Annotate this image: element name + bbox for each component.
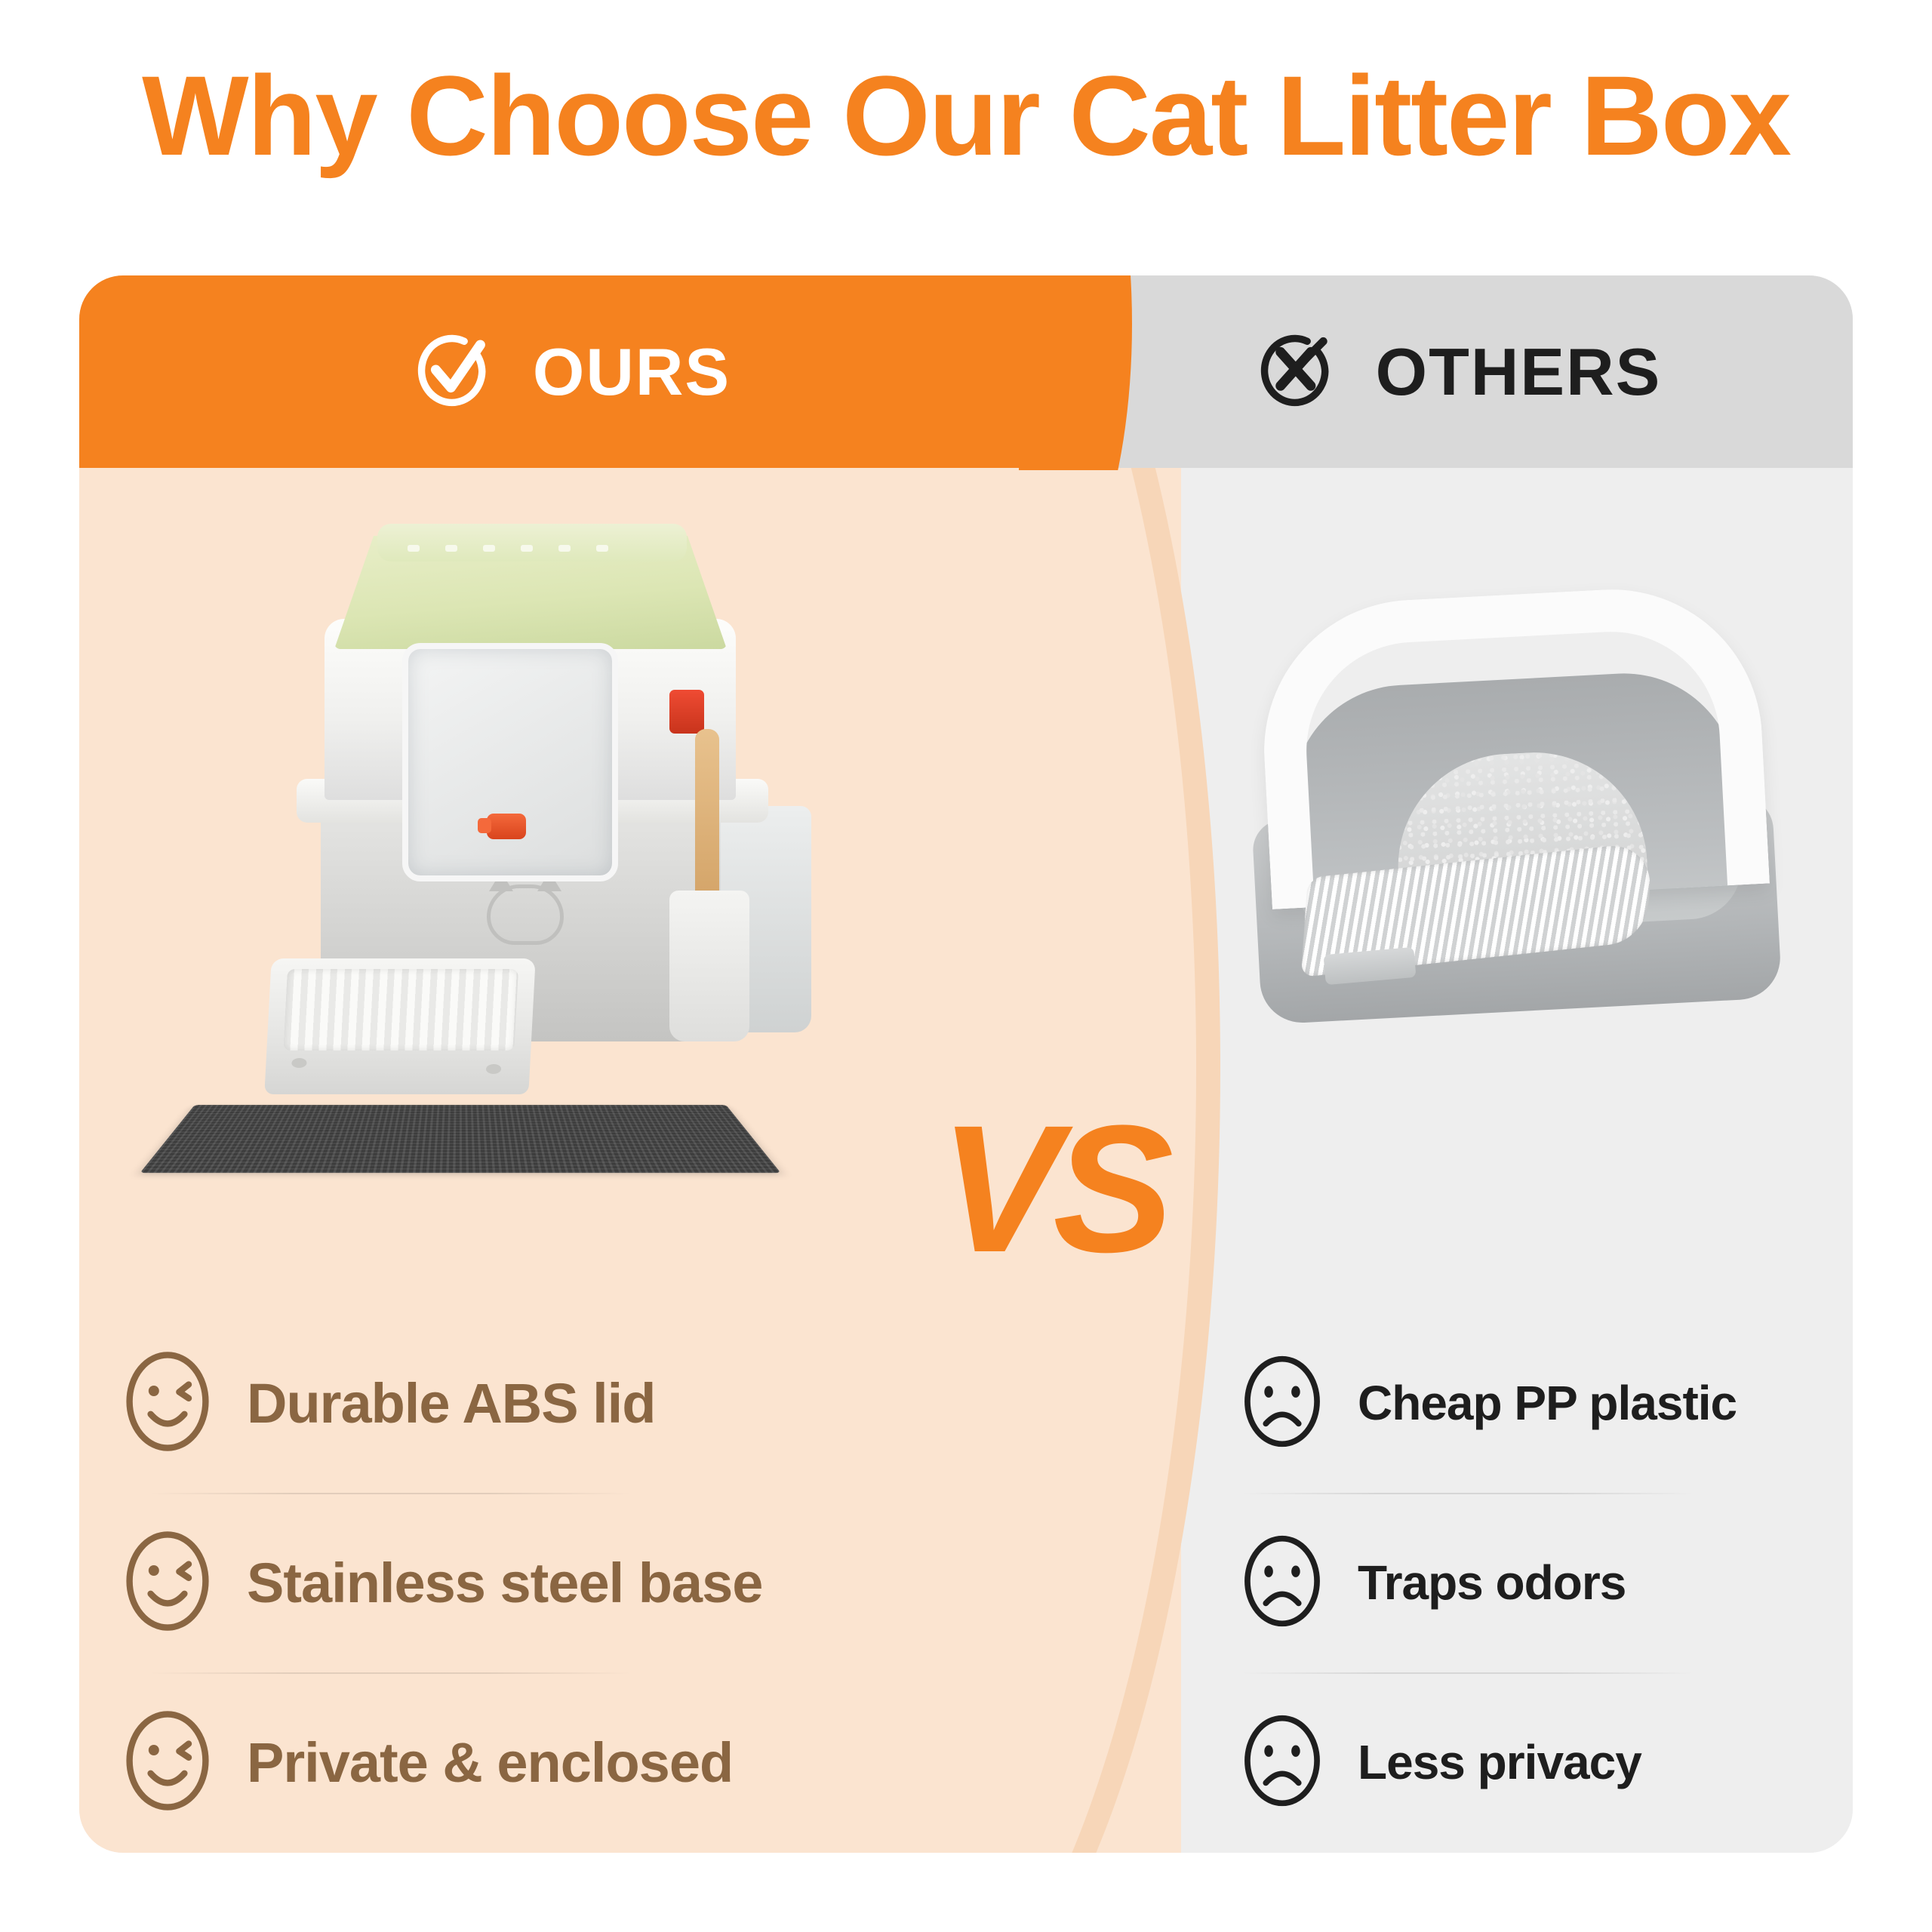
sad-face-icon [1241,1533,1323,1633]
product-image-others [1234,558,1807,1087]
feature-label: Less privacy [1358,1734,1641,1790]
page-title: Why Choose Our Cat Litter Box [0,54,1932,177]
product-image-ours [162,513,841,1283]
feature-label: Cheap PP plastic [1358,1375,1737,1431]
scoop-holder [669,891,749,1041]
others-label: OTHERS [1376,334,1662,411]
winking-smiley-icon [123,1349,212,1458]
list-item: Durable ABS lid [123,1313,1128,1493]
scoop-wooden-handle [695,729,719,907]
ours-feature-list: Durable ABS lid Stainless steel base [79,1313,1128,1853]
list-item: Traps odors [1241,1493,1853,1672]
vs-badge: VS [940,1098,1151,1279]
winking-smiley-icon [123,1528,212,1638]
lid-top-face [377,524,687,561]
ours-label: OURS [533,334,731,411]
feature-label: Traps odors [1358,1555,1626,1611]
sad-face-icon [1241,1353,1323,1454]
others-header-cell: OTHERS [1060,275,1853,468]
others-feature-list: Cheap PP plastic Traps odors [1128,1313,1853,1853]
list-item: Less privacy [1241,1672,1853,1852]
cat-face-emboss [487,884,564,945]
check-circle-icon [409,325,498,418]
feature-label: Durable ABS lid [247,1371,655,1435]
door-knob-orange [487,814,526,839]
transparent-swing-door [402,643,618,881]
step-platform [264,958,535,1094]
comparison-card: OURS OTHERS [79,275,1853,1853]
lid-latch-red [669,690,704,734]
comparison-header-labels: OURS OTHERS [79,275,1853,468]
feature-label: Stainless steel base [247,1551,762,1615]
list-item: Private & enclosed [123,1672,1128,1852]
step-grate [283,969,518,1051]
list-item: Cheap PP plastic [1241,1313,1853,1493]
feature-lists: Durable ABS lid Stainless steel base [79,1313,1853,1853]
list-item: Stainless steel base [123,1493,1128,1672]
sad-face-icon [1241,1712,1323,1813]
litter-mat [140,1105,780,1173]
x-circle-icon [1252,325,1341,418]
ours-header-cell: OURS [79,275,1060,468]
feature-label: Private & enclosed [247,1730,733,1795]
winking-smiley-icon [123,1708,212,1817]
